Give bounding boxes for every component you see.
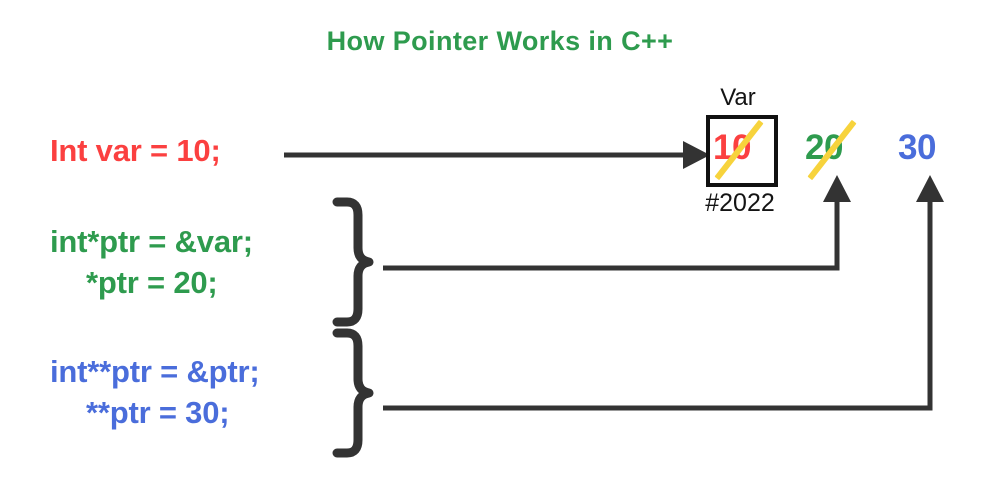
diagram-canvas: How Pointer Works in C++ Int var = 10; i… [0,0,1000,500]
statement-pointer-line1: int*ptr = &var; [50,224,253,260]
statement-declaration: Int var = 10; [50,133,221,169]
brace-double-pointer-group [331,327,375,464]
statement-double-pointer-line2: **ptr = 30; [86,395,229,431]
brace-double-pointer-icon [331,327,375,459]
arrow-double-pointer-to-value-30 [383,196,930,408]
brace-pointer-icon [331,196,375,328]
brace-pointer-group [331,196,375,333]
memory-value-30: 30 [898,128,936,168]
statement-double-pointer-line1: int**ptr = &ptr; [50,354,260,390]
memory-var-label: Var [692,84,784,112]
page-title: How Pointer Works in C++ [0,26,1000,57]
memory-address-label: #2022 [684,189,796,218]
statement-pointer-line2: *ptr = 20; [86,265,218,301]
